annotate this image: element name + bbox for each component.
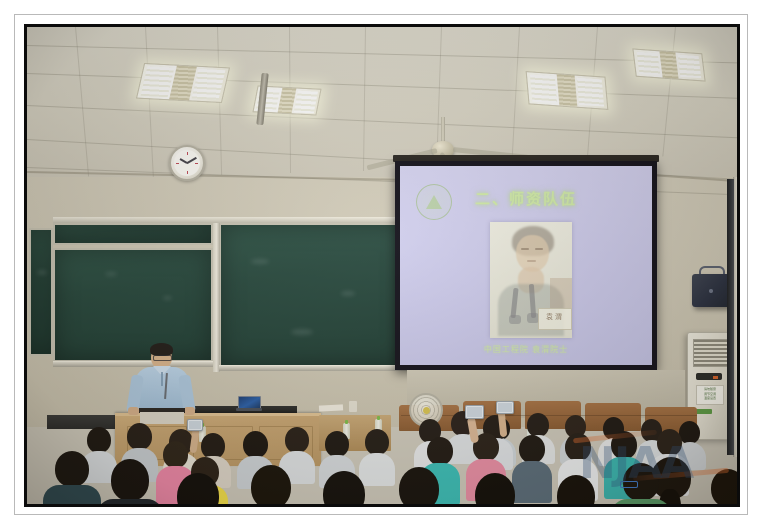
portrait-nameplate-text: 袁 渭 (538, 312, 570, 322)
ceiling-light-panel (632, 48, 705, 81)
mobile-phone (465, 405, 484, 419)
wall-clock (169, 145, 205, 181)
presenter-hand-right (184, 407, 195, 415)
eyeglasses-icon (620, 481, 638, 488)
blackboard-left-upper-strip (53, 223, 213, 245)
slide-title: 二、师资队伍 (400, 188, 652, 209)
board-top-frame (53, 217, 409, 223)
mobile-phone (187, 419, 203, 431)
desk-papers (319, 404, 343, 411)
photograph: 二、师资队伍 (27, 27, 737, 504)
presenter-hand-left (128, 407, 139, 415)
presenter-glasses (153, 355, 172, 361)
ceiling-light-panel (136, 63, 230, 103)
speaker-driver-dot (709, 289, 713, 293)
presenter-laptop-base (236, 408, 262, 411)
ac-display-panel (696, 373, 722, 380)
chalk-rail (219, 365, 409, 371)
ac-power-led (713, 376, 718, 379)
presenter-trousers (140, 412, 184, 424)
blackboard-left-narrow (29, 228, 53, 356)
projection-screen: 二、师资队伍 (400, 166, 652, 365)
ac-brand-logo (696, 409, 712, 414)
ac-notice-sign: 请勿随意调节空调温度设置 (696, 385, 724, 405)
presenter-placket (161, 372, 163, 386)
ceiling-light-panel (526, 71, 609, 110)
blackboard-center (219, 223, 407, 367)
board-divider (213, 220, 220, 372)
wall-mounted-speaker (692, 274, 730, 307)
desk-cup (349, 401, 357, 412)
slide-portrait-photo: 袁 渭 (490, 222, 572, 338)
doorway-shadow (727, 179, 734, 455)
slide-caption: 中国工程院 袁渭院士 (400, 344, 652, 355)
image-frame: 二、师资队伍 (0, 0, 764, 531)
speaker-at-podium (127, 345, 197, 425)
mobile-phone (496, 401, 514, 414)
